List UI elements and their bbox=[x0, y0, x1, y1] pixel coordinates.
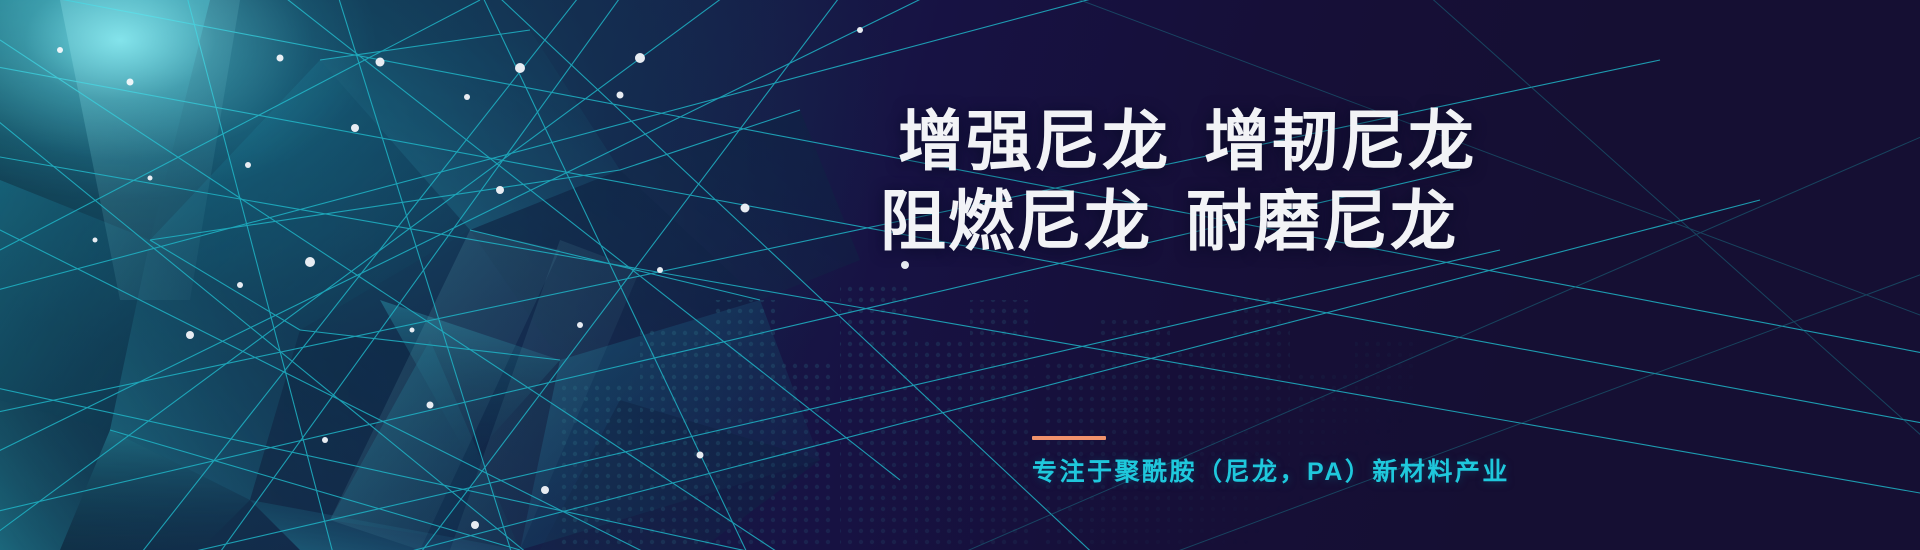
banner-subtitle: 专注于聚酰胺（尼龙，PA）新材料产业 bbox=[1032, 452, 1510, 488]
headline-line1-part2: 增韧尼龙 bbox=[1204, 104, 1476, 178]
polygon-facets bbox=[0, 0, 860, 550]
headline-line-2: 阻燃尼龙耐磨尼龙 bbox=[880, 180, 1458, 263]
banner-content: 增强尼龙增韧尼龙 阻燃尼龙耐磨尼龙 专注于聚酰胺（尼龙，PA）新材料产业 bbox=[880, 0, 1580, 550]
headline-line2-part2: 耐磨尼龙 bbox=[1186, 184, 1458, 258]
network-nodes bbox=[57, 27, 909, 529]
headline-line1-part1: 增强尼龙 bbox=[898, 104, 1170, 178]
headline-line2-part1: 阻燃尼龙 bbox=[880, 184, 1152, 258]
headline-line-1: 增强尼龙增韧尼龙 bbox=[898, 100, 1476, 183]
light-beams bbox=[60, 0, 640, 550]
hero-banner: 增强尼龙增韧尼龙 阻燃尼龙耐磨尼龙 专注于聚酰胺（尼龙，PA）新材料产业 bbox=[0, 0, 1920, 550]
accent-divider bbox=[1032, 436, 1106, 440]
